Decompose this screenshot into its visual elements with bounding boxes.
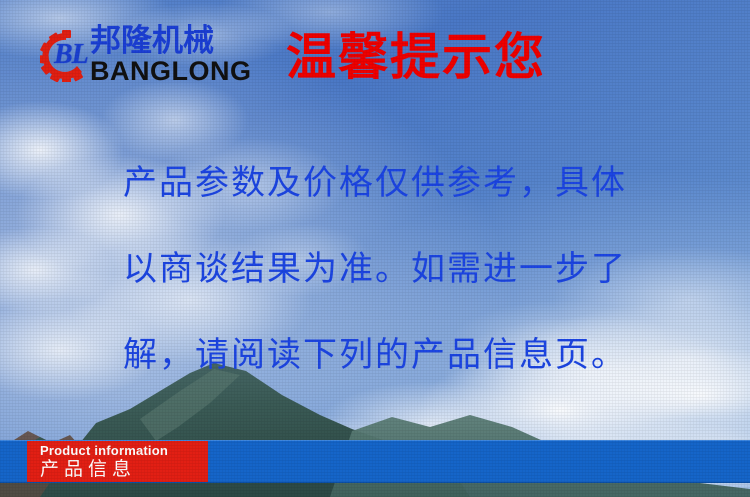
gear-icon: BL	[40, 30, 92, 82]
notice-line-1: 产品参数及价格仅供参考，具体	[0, 140, 750, 226]
company-logo: BL 邦隆机械 BANGLONG	[40, 26, 252, 85]
brand-name-cn: 邦隆机械	[90, 26, 252, 57]
section-bar: Product information 产品信息	[0, 440, 750, 483]
headline-text: 温馨提示您	[286, 32, 546, 82]
notice-line-3: 解，请阅读下列的产品信息页。	[0, 312, 750, 398]
notice-line-2: 以商谈结果为准。如需进一步了	[0, 226, 750, 312]
product-information-label-en: Product information	[40, 443, 208, 458]
promo-banner: BL 邦隆机械 BANGLONG 温馨提示您 产品参数及价格仅供参考，具体 以商…	[0, 0, 750, 497]
logo-initials: BL	[54, 39, 88, 71]
notice-body: 产品参数及价格仅供参考，具体 以商谈结果为准。如需进一步了 解，请阅读下列的产品…	[0, 140, 750, 398]
product-information-label: Product information 产品信息	[27, 441, 208, 482]
product-information-label-cn: 产品信息	[40, 458, 208, 480]
brand-name-en: BANGLONG	[90, 58, 252, 85]
brand-text: 邦隆机械 BANGLONG	[90, 26, 252, 85]
